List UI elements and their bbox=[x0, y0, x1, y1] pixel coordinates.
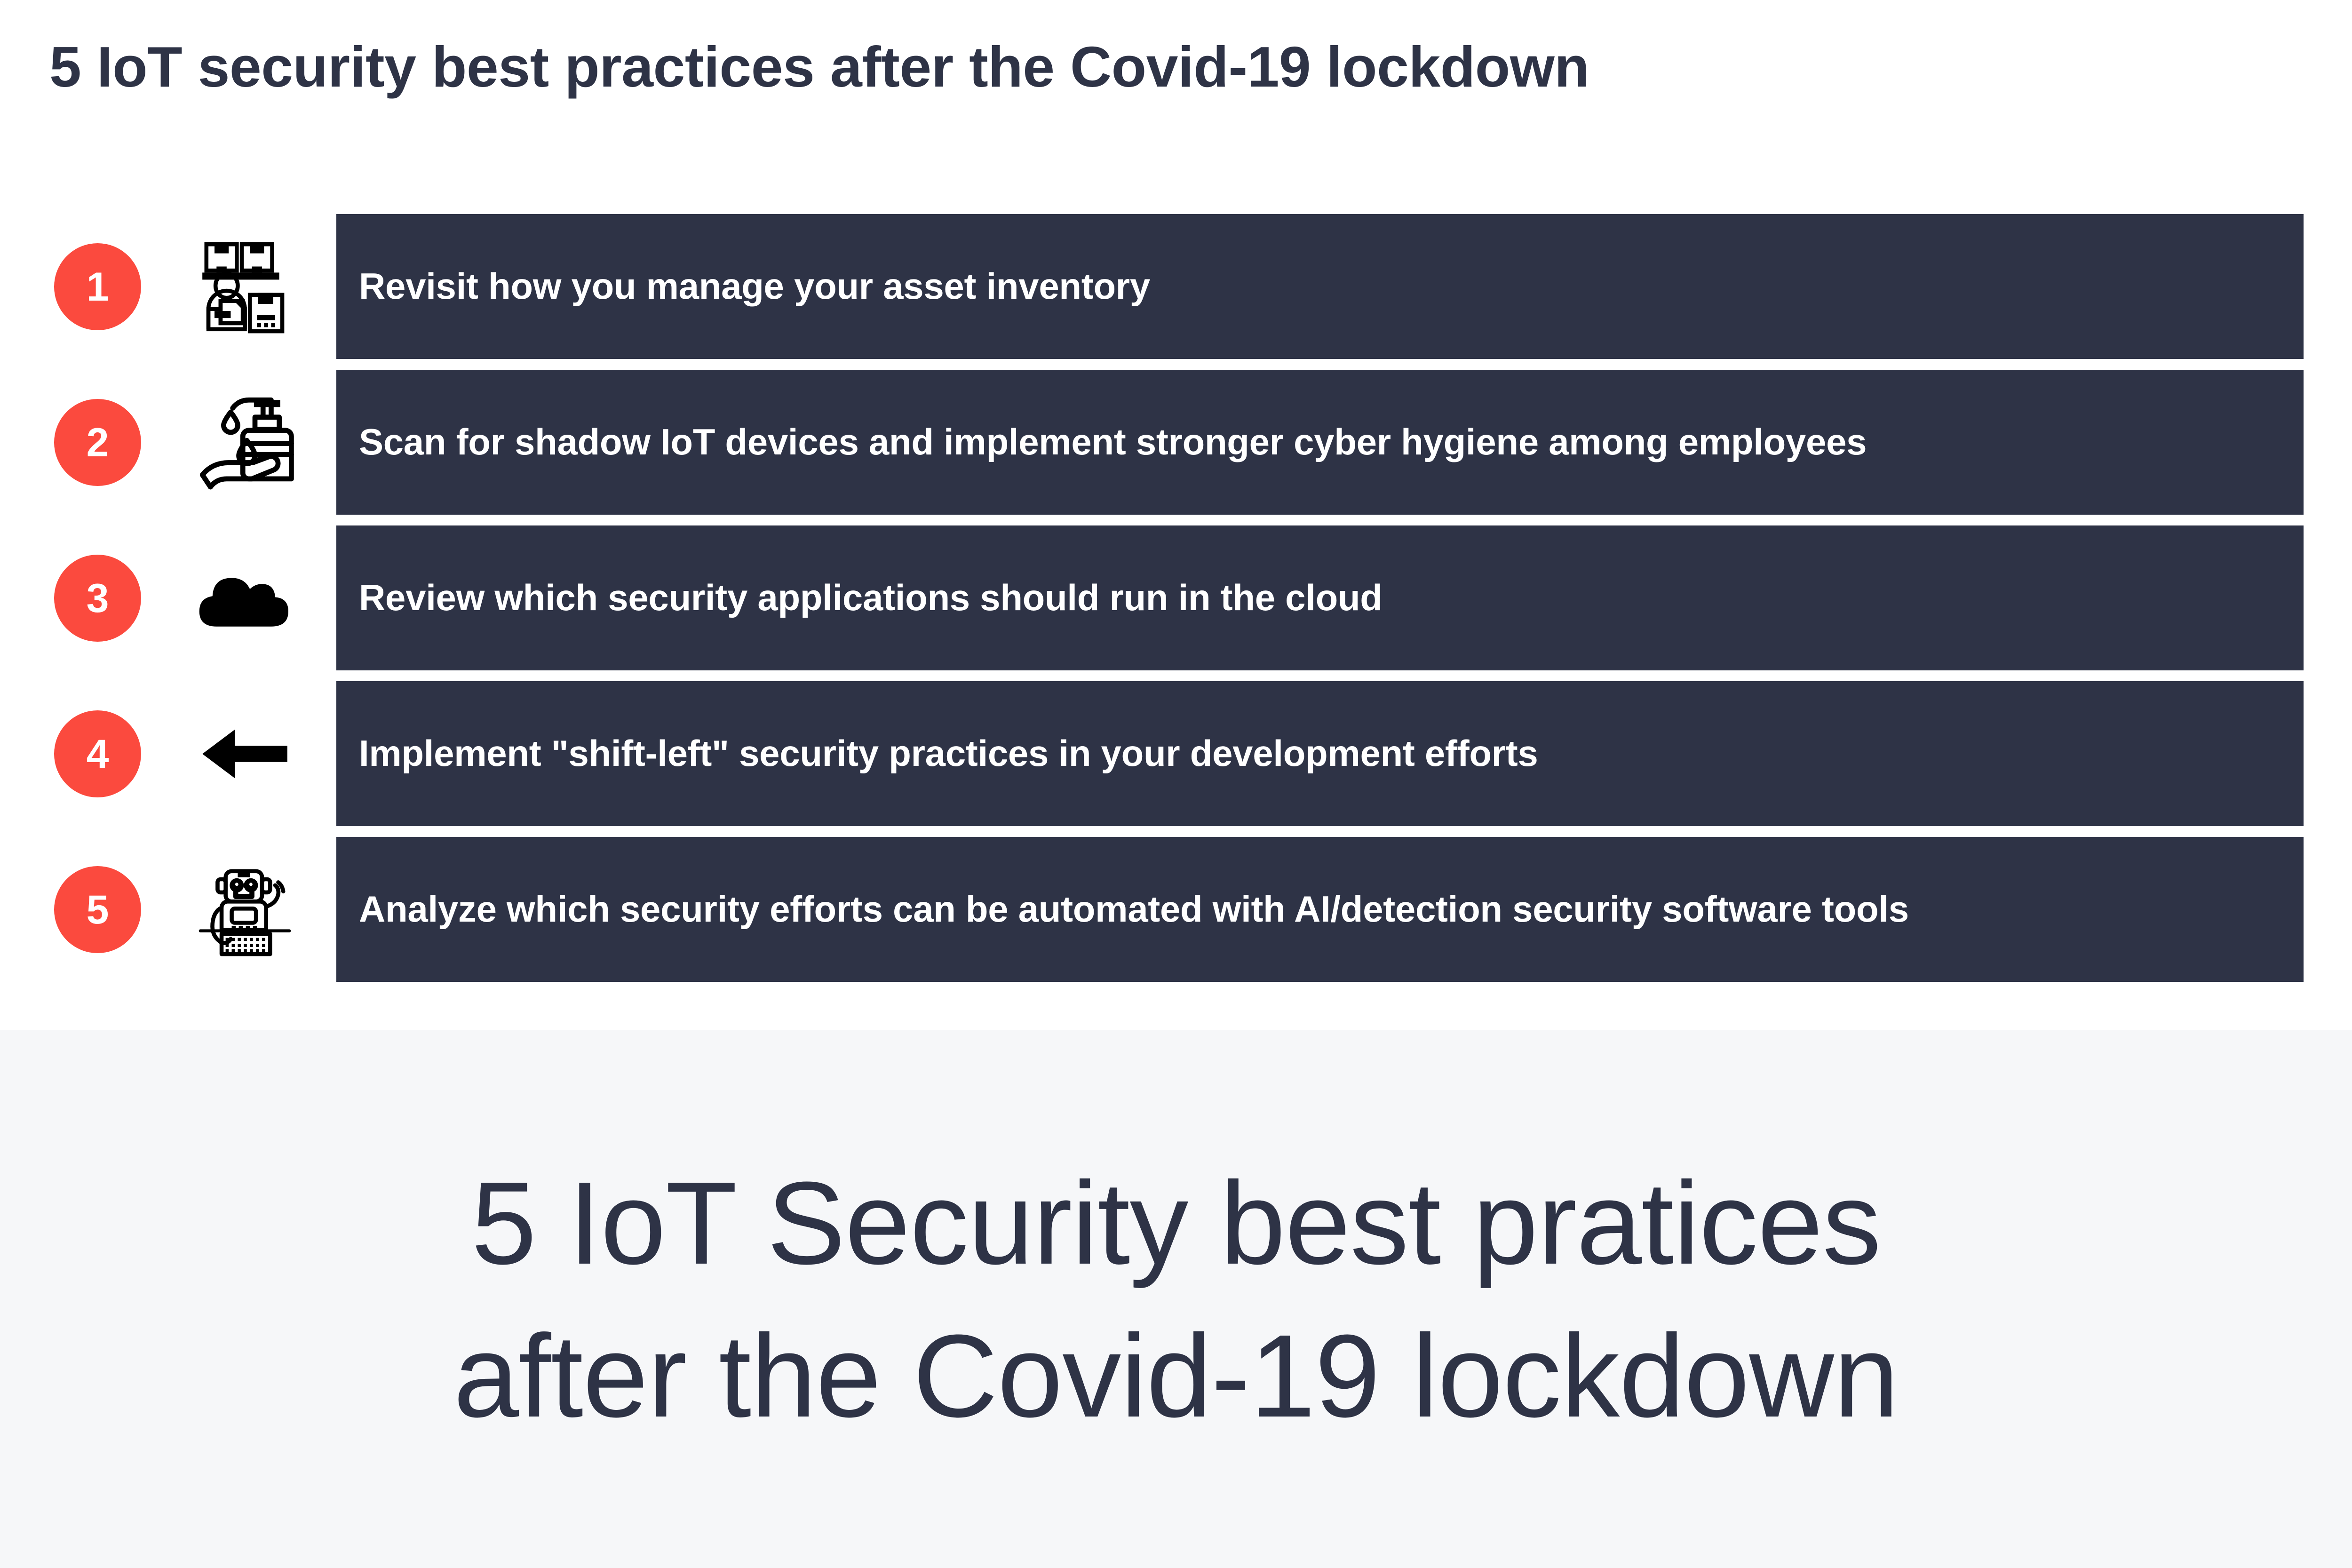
list-item[interactable]: 3 Review which security applications sho… bbox=[0, 525, 2352, 670]
step-number-badge: 2 bbox=[54, 399, 141, 486]
practice-text: Review which security applications shoul… bbox=[336, 575, 1402, 620]
practice-text: Revisit how you manage your asset invent… bbox=[336, 264, 1170, 309]
list-item[interactable]: 2 Scan fo bbox=[0, 370, 2352, 515]
list-item[interactable]: 4 Implement "shift-left" security practi… bbox=[0, 681, 2352, 826]
list-item[interactable]: 1 bbox=[0, 214, 2352, 359]
practice-bar: Review which security applications shoul… bbox=[336, 525, 2304, 670]
banner-title-line-1: 5 IoT Security best pratices bbox=[471, 1146, 1881, 1299]
step-number-badge: 3 bbox=[54, 555, 141, 642]
practice-text: Implement "shift-left" security practice… bbox=[336, 731, 1558, 776]
practice-bar: Scan for shadow IoT devices and implemen… bbox=[336, 370, 2304, 515]
practice-text: Analyze which security efforts can be au… bbox=[336, 887, 1929, 931]
step-number-badge: 4 bbox=[54, 710, 141, 797]
practice-bar: Implement "shift-left" security practice… bbox=[336, 681, 2304, 826]
step-number-badge: 1 bbox=[54, 243, 141, 330]
robot-keyboard-icon bbox=[174, 837, 315, 982]
hand-sanitizer-icon bbox=[174, 370, 315, 515]
banner-section: 5 IoT Security best pratices after the C… bbox=[0, 1030, 2352, 1568]
infographic-section: 5 IoT security best practices after the … bbox=[0, 0, 2352, 1030]
banner-title-line-2: after the Covid-19 lockdown bbox=[453, 1299, 1899, 1452]
practice-bar: Analyze which security efforts can be au… bbox=[336, 837, 2304, 982]
cloud-icon bbox=[174, 525, 315, 670]
infographic-page: 5 IoT security best practices after the … bbox=[0, 0, 2352, 1568]
list-item[interactable]: 5 bbox=[0, 837, 2352, 982]
arrow-left-icon bbox=[174, 681, 315, 826]
practice-text: Scan for shadow IoT devices and implemen… bbox=[336, 420, 1886, 464]
page-title: 5 IoT security best practices after the … bbox=[49, 37, 1589, 97]
step-number-badge: 5 bbox=[54, 866, 141, 953]
practice-bar: Revisit how you manage your asset invent… bbox=[336, 214, 2304, 359]
warehouse-inventory-icon bbox=[174, 214, 315, 359]
practices-list: 1 bbox=[0, 214, 2352, 993]
